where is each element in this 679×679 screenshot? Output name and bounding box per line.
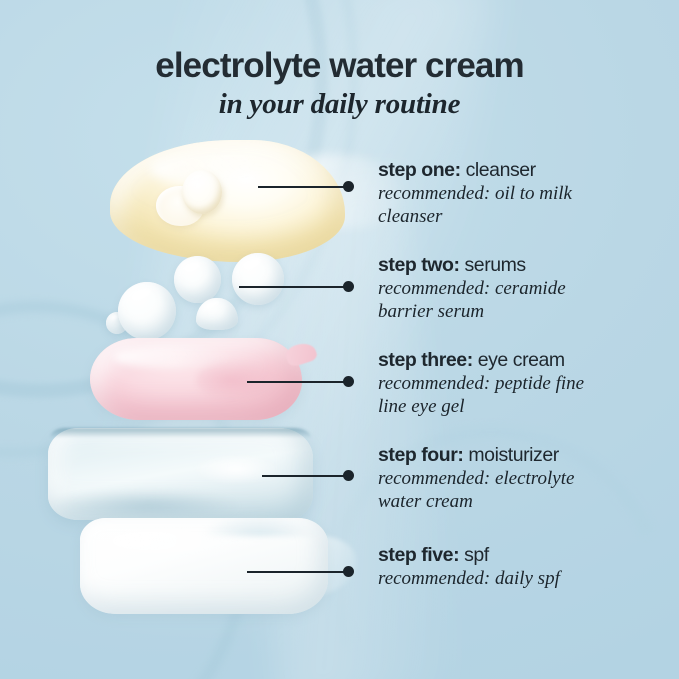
step-three-label: step three: [378, 349, 473, 371]
step-three-product: eye cream [473, 349, 565, 371]
step-one-label: step one: [378, 159, 461, 181]
step-three-recommendation: recommended: peptide fine line eye gel [378, 373, 606, 418]
routine-step-four: step four: moisturizer recommended: elec… [378, 444, 606, 513]
electrolyte-water-cream-routine-infographic: electrolyte water cream in your daily ro… [0, 0, 679, 679]
step-four-product: moisturizer [463, 444, 558, 466]
routine-step-three: step three: eye cream recommended: pepti… [378, 349, 606, 418]
step-five-label: step five: [378, 544, 459, 566]
step-four-title: step four: moisturizer [378, 444, 606, 467]
step-one-recommendation: recommended: oil to milk cleanser [378, 183, 606, 228]
step-five-product: spf [459, 544, 489, 566]
step-two-recommendation: recommended: ceramide barrier serum [378, 278, 606, 323]
step-two-title: step two: serums [378, 254, 606, 277]
step-one-title: step one: cleanser [378, 159, 606, 182]
routine-step-five: step five: spf recommended: daily spf [378, 544, 560, 591]
step-five-recommendation: recommended: daily spf [378, 568, 560, 590]
step-four-recommendation: recommended: electrolyte water cream [378, 468, 606, 513]
step-five-title: step five: spf [378, 544, 560, 567]
routine-steps-list: step one: cleanser recommended: oil to m… [0, 0, 679, 679]
routine-step-two: step two: serums recommended: ceramide b… [378, 254, 606, 323]
step-three-title: step three: eye cream [378, 349, 606, 372]
step-four-label: step four: [378, 444, 463, 466]
step-two-label: step two: [378, 254, 460, 276]
routine-step-one: step one: cleanser recommended: oil to m… [378, 159, 606, 228]
step-one-product: cleanser [461, 159, 536, 181]
step-two-product: serums [460, 254, 526, 276]
